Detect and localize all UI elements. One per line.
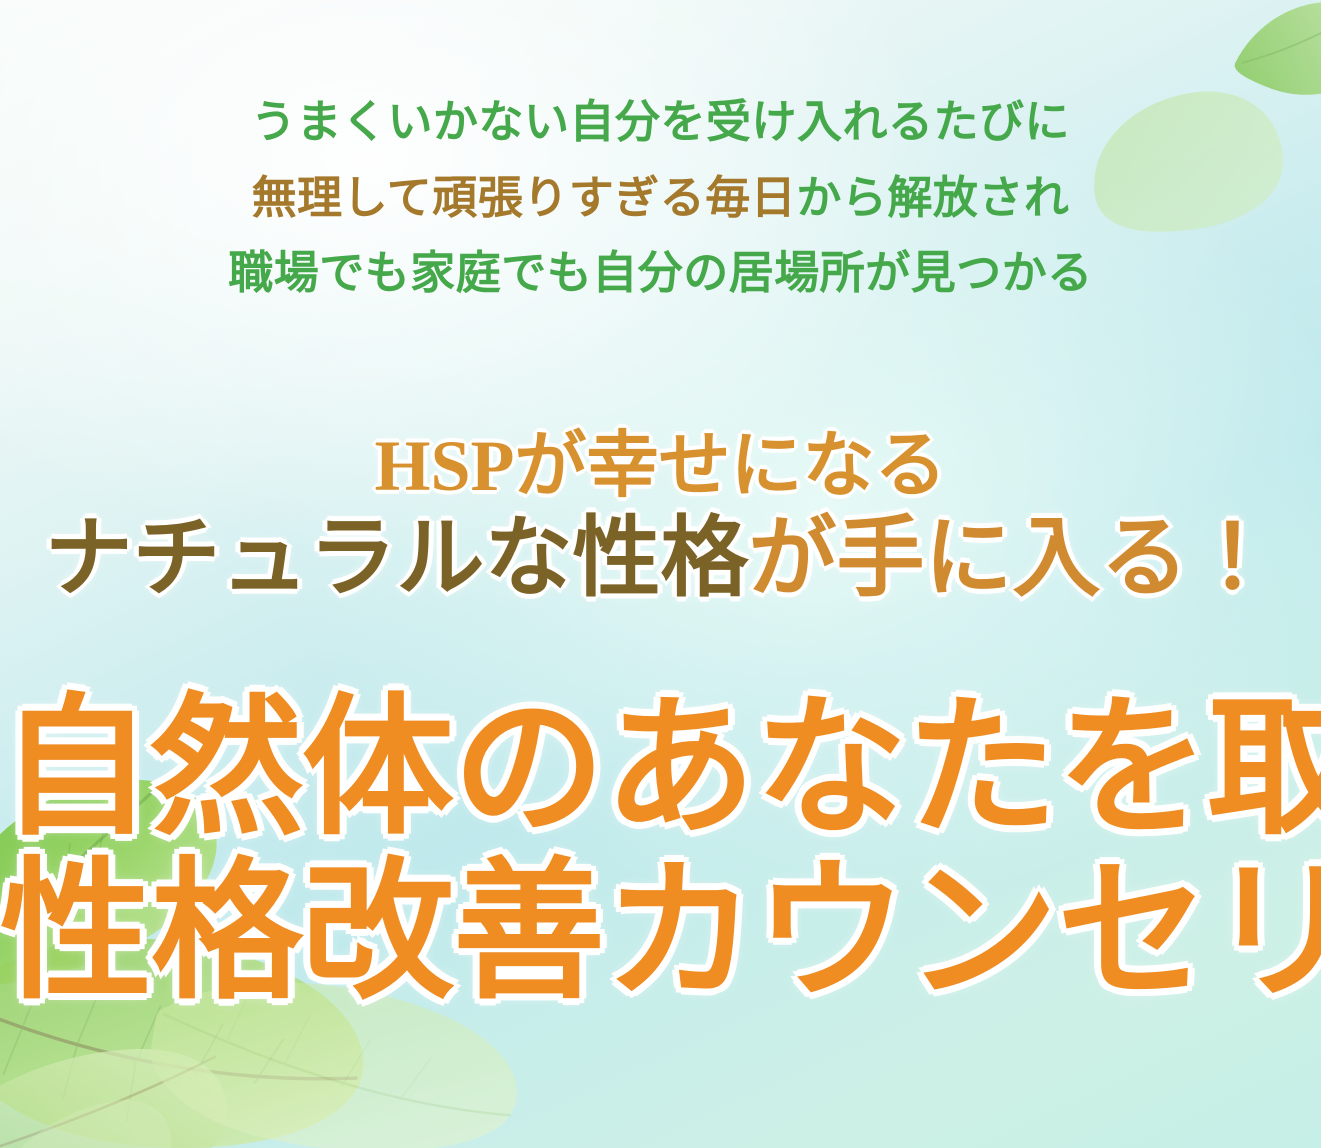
lead-line-2: 無理して頑張りすぎる毎日から解放され <box>0 160 1321 236</box>
mid-headline-block: HSPが幸せになる ナチュラルな性格が手に入る！ <box>0 424 1321 610</box>
mid-headline-line-2-amber: が手に入る！ <box>749 511 1277 608</box>
lead-line-1-green: うまくいかない自分を受け入れるたびに <box>251 96 1070 147</box>
lead-line-3: 職場でも家庭でも自分の居場所が見つかる <box>0 235 1321 311</box>
mid-headline-line-1: HSPが幸せになる <box>0 424 1321 509</box>
lead-line-2-green: から解放され <box>796 172 1069 223</box>
poster-root: うまくいかない自分を受け入れるたびに 無理して頑張りすぎる毎日から解放され 職場… <box>0 0 1321 1148</box>
lead-line-1: うまくいかない自分を受け入れるたびに <box>0 84 1321 160</box>
mid-headline-line-2-dark: ナチュラルな性格 <box>44 511 748 608</box>
mid-headline-line-2: ナチュラルな性格が手に入る！ <box>0 511 1321 610</box>
content-layer: うまくいかない自分を受け入れるたびに 無理して頑張りすぎる毎日から解放され 職場… <box>0 0 1321 1148</box>
big-headline-line-1: 自然体のあなたを取り戻す <box>0 690 1321 848</box>
big-headline-line-2: 性格改善カウンセリング <box>0 854 1321 1012</box>
lead-copy-block: うまくいかない自分を受け入れるたびに 無理して頑張りすぎる毎日から解放され 職場… <box>0 84 1321 311</box>
big-headline-block: 自然体のあなたを取り戻す 性格改善カウンセリング <box>0 690 1321 1012</box>
lead-line-2-brown: 無理して頑張りすぎる毎日 <box>252 172 797 223</box>
lead-line-3-green: 職場でも家庭でも自分の居場所が見つかる <box>228 247 1093 298</box>
